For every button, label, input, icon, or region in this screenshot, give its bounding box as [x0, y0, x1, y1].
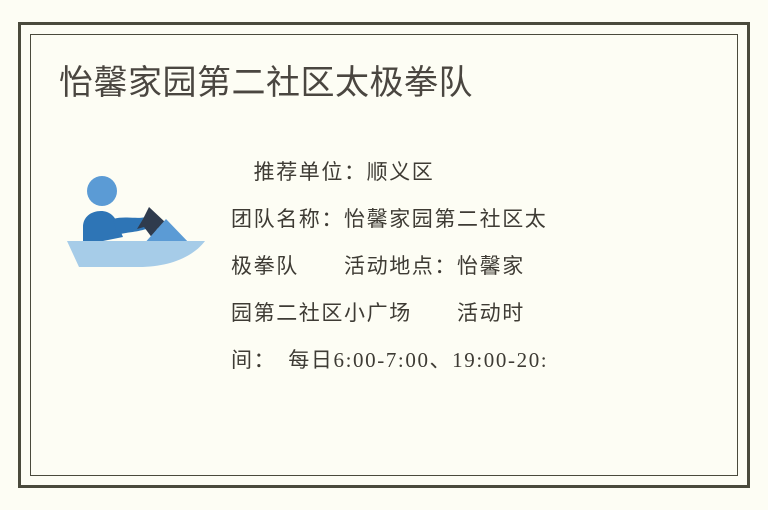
card-content: 推荐单位：顺义区 团队名称：怡馨家园第二社区太 极拳队 活动地点：怡馨家 园第二… [21, 149, 747, 409]
boat-hull-icon [67, 241, 205, 267]
page-title: 怡馨家园第二社区太极拳队 [59, 61, 473, 105]
body-line-4: 园第二社区小广场 活动时 [231, 290, 661, 337]
body-line-3: 极拳队 活动地点：怡馨家 [231, 243, 661, 290]
body-line-5: 间： 每日6:00-7:00、19:00-20: [231, 337, 661, 384]
person-in-boat-illustration [65, 171, 213, 275]
body-text-block: 推荐单位：顺义区 团队名称：怡馨家园第二社区太 极拳队 活动地点：怡馨家 园第二… [231, 149, 661, 384]
card-frame-outer: 怡馨家园第二社区太极拳队 [18, 22, 750, 488]
figure-head-icon [87, 176, 117, 206]
body-line-1: 推荐单位：顺义区 [231, 149, 661, 196]
person-in-boat-icon [65, 171, 213, 275]
body-line-2: 团队名称：怡馨家园第二社区太 [231, 196, 661, 243]
page-root: 怡馨家园第二社区太极拳队 [0, 0, 768, 510]
